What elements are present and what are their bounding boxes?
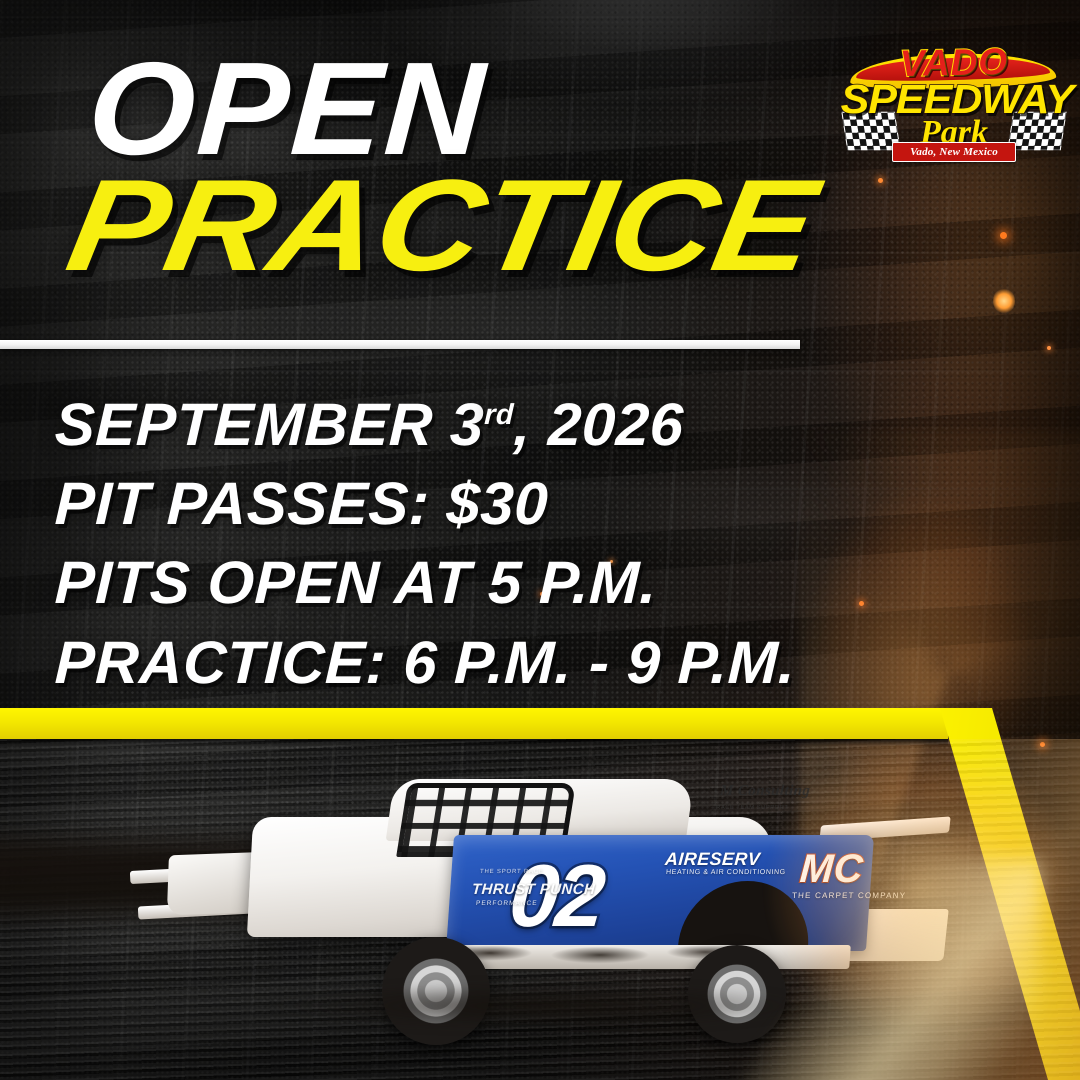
detail-date-year: , 2026 [513,391,685,458]
detail-line-date: SEPTEMBER 3rd, 2026 [54,385,857,464]
ember-particle-icon [993,288,1015,314]
divider-rule [0,340,800,349]
detail-line-pits-open: PITS OPEN AT 5 P.M. [54,543,857,622]
detail-date-text: SEPTEMBER 3 [54,391,485,458]
ember-particle-icon [1000,232,1007,239]
event-details-list: SEPTEMBER 3rd, 2026 PIT PASSES: $30 PITS… [55,385,855,702]
logo-location-banner: Vado, New Mexico [892,142,1016,162]
detail-line-pit-passes: PIT PASSES: $30 [54,464,857,543]
ember-particle-icon [878,178,883,183]
detail-line-practice-time: PRACTICE: 6 P.M. - 9 P.M. [54,623,857,702]
decal-tp-top: THE SPORT RACE [480,869,544,875]
event-poster: OPEN PRACTICE SEPTEMBER 3rd, 2026 PIT PA… [0,0,1080,1080]
detail-date-superscript: rd [484,399,515,431]
vado-speedway-park-logo: VADO SPEEDWAY Park Vado, New Mexico [846,24,1062,166]
photo-light-streak [740,859,1040,1080]
decal-thrust-punch: THRUST PUNCH [471,881,595,898]
race-car-photo: 02 M Consulting RACE TEAM SUPPORT AIRESE… [0,739,1080,1080]
ember-particle-icon [1047,346,1051,350]
decal-thrust-punch-sub: PERFORMANCE [476,900,538,907]
yellow-bar-horizontal [0,708,948,739]
title-line-practice: PRACTICE [60,163,824,288]
ember-particle-icon [859,601,864,606]
